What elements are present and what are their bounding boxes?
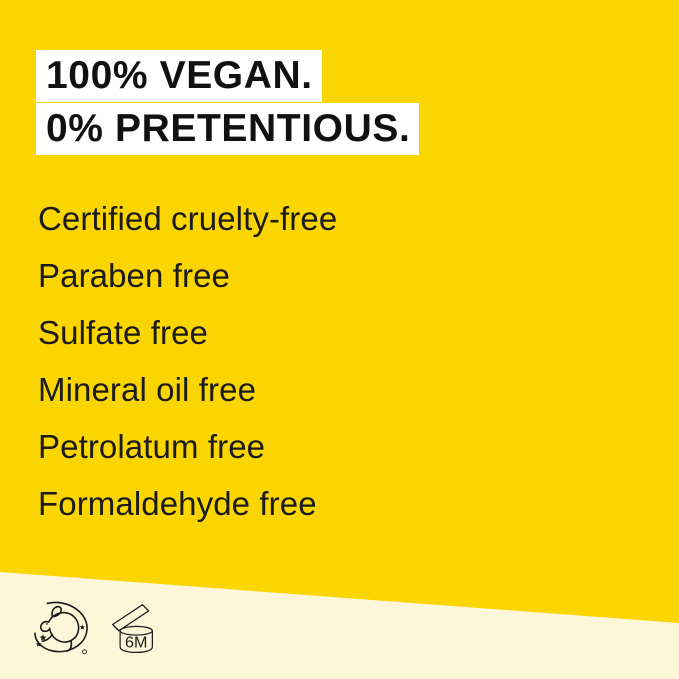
headline-line-2: 0% PRETENTIOUS. (36, 103, 419, 155)
claim-label: Paraben free (38, 257, 230, 294)
leaping-bunny-icon (30, 596, 92, 658)
headline: 100% VEGAN. 0% PRETENTIOUS. (36, 50, 556, 155)
claim-label: Certified cruelty-free (38, 200, 337, 237)
claim-label: Petrolatum free (38, 428, 265, 465)
list-item: Paraben free (38, 247, 337, 304)
open-jar-icon: 6M (104, 596, 166, 658)
product-claims-poster: 100% VEGAN. 0% PRETENTIOUS. Certified cr… (0, 0, 679, 679)
list-item: Formaldehyde free (38, 475, 337, 532)
list-item: Mineral oil free (38, 361, 337, 418)
claim-label: Sulfate free (38, 314, 208, 351)
list-item: Petrolatum free (38, 418, 337, 475)
list-item: Sulfate free (38, 304, 337, 361)
claim-label: Formaldehyde free (38, 485, 317, 522)
pao-duration-label: 6M (125, 633, 147, 651)
certification-icons: 6M (30, 596, 166, 658)
headline-line-1: 100% VEGAN. (36, 50, 322, 102)
claim-label: Mineral oil free (38, 371, 256, 408)
list-item: Certified cruelty-free (38, 190, 337, 247)
claims-list: Certified cruelty-free Paraben free Sulf… (38, 190, 337, 532)
